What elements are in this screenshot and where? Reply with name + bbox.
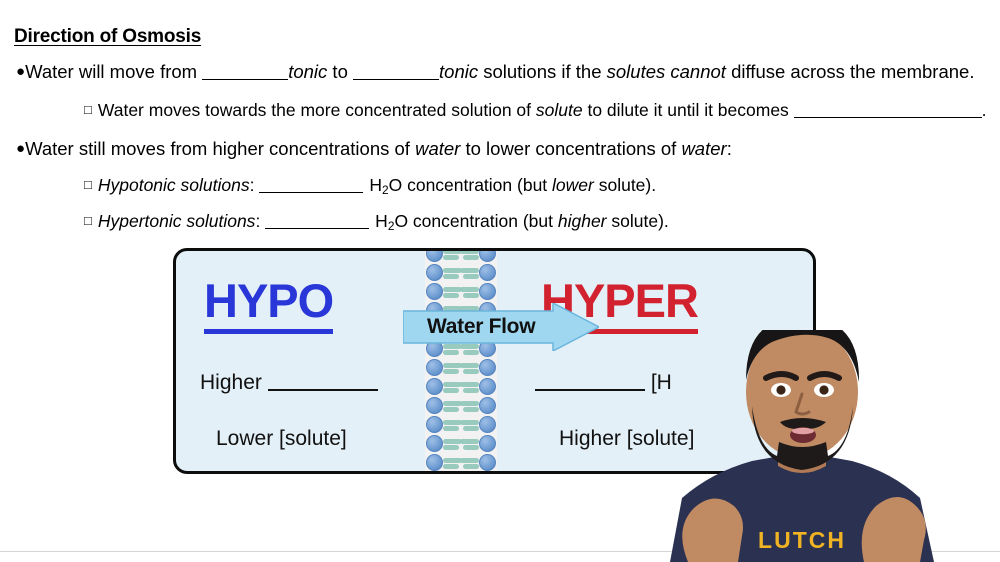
bullet-5-colon: : [255, 211, 265, 231]
bullet-5-text-c: O concentration (but [394, 211, 557, 231]
bullet-3-colon: : [727, 138, 732, 159]
bullet-3-text-a: Water still moves from higher concentrat… [25, 138, 415, 159]
presenter-shirt-text: LUTCH [758, 527, 846, 553]
presenter-video-overlay: LUTCH [642, 330, 1000, 562]
bullet-2-text-c: to dilute it until it becomes [583, 100, 794, 120]
blank-hypotonic-conc [259, 192, 363, 193]
bullet-4-term: Hypotonic solutions [98, 175, 250, 195]
bullet-square-icon: □ [84, 213, 92, 228]
hypo-label: HYPO [204, 274, 333, 327]
arrow-label: Water Flow [403, 303, 599, 351]
bullet-4-text-e: solute). [594, 175, 656, 195]
blank-left-concentration [268, 389, 378, 391]
bullet-3-emph-water-2: water [681, 138, 726, 159]
bullet-1-text-c: solutions if the [478, 61, 607, 82]
bullet-line-4-hypotonic: □Hypotonic solutions: H2O concentration … [84, 176, 656, 197]
bullet-3-emph-water-1: water [415, 138, 460, 159]
left-concentration-prefix: Higher [200, 371, 262, 394]
bullet-dot-icon: ● [16, 63, 25, 80]
blank-right-concentration [535, 389, 645, 391]
bullet-5-emph-higher: higher [558, 211, 607, 231]
bullet-dot-icon: ● [16, 140, 25, 157]
left-concentration-line: Higher [200, 371, 378, 395]
bullet-1-emph-solutes-cannot: solutes cannot [607, 61, 726, 82]
bullet-square-icon: □ [84, 177, 92, 192]
bullet-line-3: ●Water still moves from higher concentra… [16, 139, 732, 159]
hypo-heading: HYPO [204, 277, 333, 334]
bullet-line-1: ●Water will move from tonic to tonic sol… [16, 62, 974, 82]
blank-tonic-1 [202, 79, 288, 80]
bullet-2-text-a: Water moves towards the more concentrate… [98, 100, 536, 120]
bullet-4-colon: : [250, 175, 260, 195]
bullet-2-emph-solute: solute [536, 100, 583, 120]
blank-hypertonic-conc [265, 228, 369, 229]
bullet-3-text-c: to lower concentrations of [460, 138, 681, 159]
left-solute-label: Lower [solute] [216, 427, 347, 451]
diagram-left-panel: HYPO Higher Lower [solute] [176, 251, 425, 474]
bullet-5-h: H [375, 211, 388, 231]
blank-becomes [794, 117, 982, 118]
bullet-1-tonic-1: tonic [288, 61, 327, 82]
bullet-2-period: . [982, 100, 987, 120]
bullet-4-text-c: O concentration (but [389, 175, 552, 195]
water-flow-arrow: Water Flow [403, 303, 599, 351]
bullet-4-h: H [369, 175, 382, 195]
bullet-4-h-sub: 2 [382, 183, 389, 197]
bullet-line-2: □Water moves towards the more concentrat… [84, 101, 987, 120]
hypo-underline [204, 329, 333, 334]
bullet-square-icon: □ [84, 102, 92, 117]
bullet-1-tonic-2: tonic [439, 61, 478, 82]
page-title: Direction of Osmosis [14, 26, 201, 48]
bullet-1-text-b: to [327, 61, 353, 82]
bullet-line-5-hypertonic: □Hypertonic solutions: H2O concentration… [84, 212, 669, 233]
bullet-4-emph-lower: lower [552, 175, 594, 195]
blank-tonic-2 [353, 79, 439, 80]
bullet-1-text-e: diffuse across the membrane. [726, 61, 975, 82]
slide-canvas: Direction of Osmosis ●Water will move fr… [0, 0, 1000, 562]
bullet-5-text-e: solute). [607, 211, 669, 231]
phospholipid-bilayer [425, 251, 497, 474]
bullet-5-term: Hypertonic solutions [98, 211, 256, 231]
bullet-1-text-a: Water will move from [25, 61, 202, 82]
